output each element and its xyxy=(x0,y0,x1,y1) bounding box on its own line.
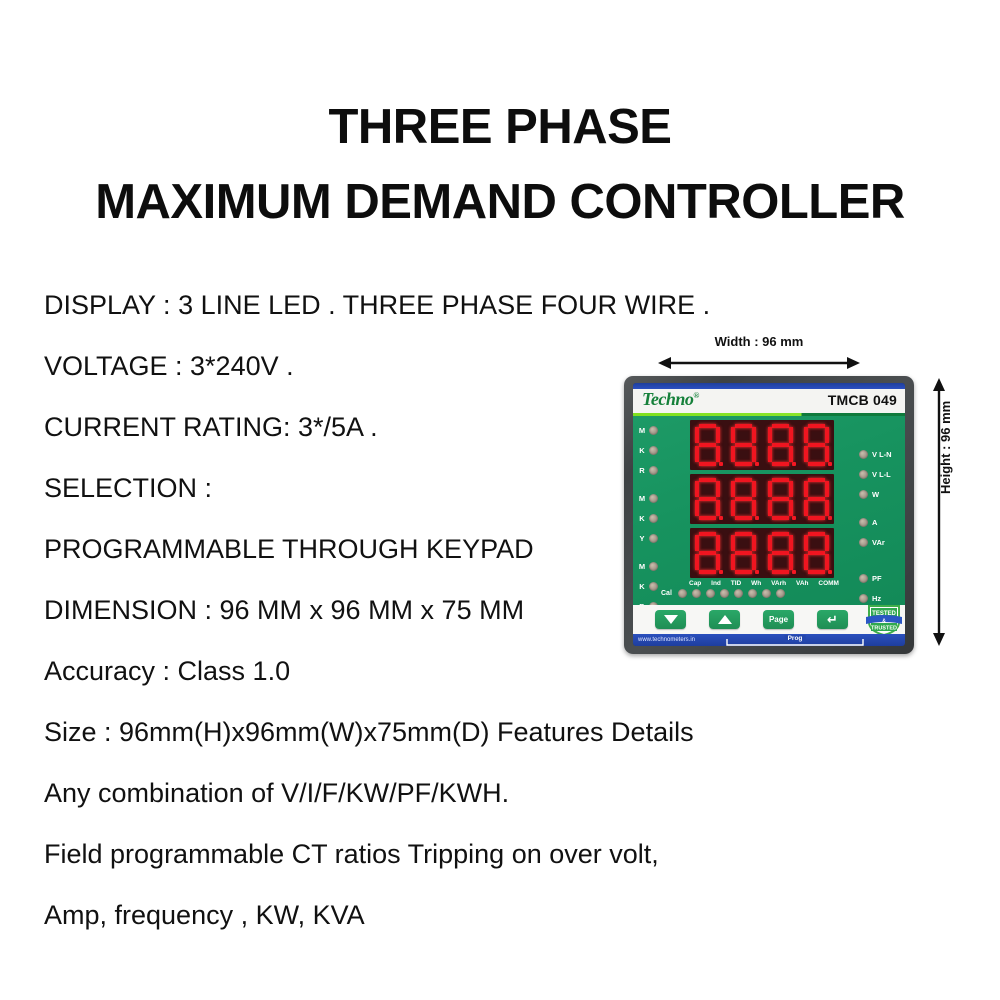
led-label: VAr xyxy=(872,538,885,547)
spec-line: Field programmable CT ratios Tripping on… xyxy=(44,841,664,902)
led-indicator: VAr xyxy=(859,532,903,552)
cal-led-row: Cal xyxy=(661,589,841,598)
led-dot-icon xyxy=(649,426,658,435)
led-display-row-2 xyxy=(690,474,834,524)
led-dot-icon xyxy=(649,582,658,591)
spec-line: Any combination of V/I/F/KW/PF/KWH. xyxy=(44,780,664,841)
chevron-up-icon xyxy=(718,615,732,624)
function-label: VAh xyxy=(796,580,809,587)
device-panel: M K R M K Y M K B V L-N xyxy=(633,416,905,605)
led-label: Y xyxy=(635,534,649,543)
function-label: VArh xyxy=(771,580,786,587)
led-display-row-1 xyxy=(690,420,834,470)
led-dot-icon xyxy=(748,589,757,598)
led-indicator: PF xyxy=(859,568,903,588)
led-dot-icon xyxy=(859,490,868,499)
spec-line: VOLTAGE : 3*240V . xyxy=(44,353,664,414)
prog-bracket: Prog xyxy=(725,635,865,645)
led-label: K xyxy=(635,582,649,591)
led-dot-icon xyxy=(859,470,868,479)
led-indicator: M xyxy=(635,488,679,508)
seven-segment-digit xyxy=(768,532,793,574)
up-button[interactable] xyxy=(709,610,740,629)
brand-logo: Techno® xyxy=(642,389,699,410)
spec-line: Amp, frequency , KW, KVA xyxy=(44,902,664,963)
prog-label: Prog xyxy=(785,635,806,642)
svg-text:TRUSTED: TRUSTED xyxy=(871,626,897,632)
led-dot-icon xyxy=(720,589,729,598)
led-dot-icon xyxy=(649,514,658,523)
led-dot-icon xyxy=(776,589,785,598)
seven-segment-digit xyxy=(804,532,829,574)
title-line-1: THREE PHASE xyxy=(0,103,1000,152)
seven-segment-digit xyxy=(695,478,720,520)
led-label: V L-N xyxy=(872,450,892,459)
function-label: Cap xyxy=(689,580,701,587)
spec-line: SELECTION : xyxy=(44,475,664,536)
function-label: TID xyxy=(731,580,741,587)
led-dot-icon xyxy=(762,589,771,598)
led-label: M xyxy=(635,426,649,435)
down-button[interactable] xyxy=(655,610,686,629)
registered-icon: ® xyxy=(693,391,698,400)
led-label: W xyxy=(872,490,879,499)
led-indicator: Y xyxy=(635,528,679,548)
led-indicator: A xyxy=(859,512,903,532)
title-line-2: MAXIMUM DEMAND CONTROLLER xyxy=(0,178,1000,227)
cal-label: Cal xyxy=(661,590,672,597)
brand-text: Techno xyxy=(642,389,693,409)
led-indicator: K xyxy=(635,440,679,460)
seven-segment-digit xyxy=(804,424,829,466)
led-dot-icon xyxy=(692,589,701,598)
seven-segment-digit xyxy=(804,478,829,520)
led-label: PF xyxy=(872,574,882,583)
led-dot-icon xyxy=(859,450,868,459)
left-led-column: M K R M K Y M K B xyxy=(635,420,679,616)
seven-segment-digit xyxy=(695,424,720,466)
device-footer-bar: www.technometers.in Prog xyxy=(633,634,905,646)
led-display-row-3 xyxy=(690,528,834,578)
led-spacer xyxy=(859,560,903,568)
led-dot-icon xyxy=(734,589,743,598)
led-indicator: M xyxy=(635,420,679,440)
led-label: Hz xyxy=(872,594,881,603)
led-dot-icon xyxy=(649,446,658,455)
led-dot-icon xyxy=(649,562,658,571)
spec-line: Size : 96mm(H)x96mm(W)x75mm(D) Features … xyxy=(44,719,664,780)
poster-root: THREE PHASE MAXIMUM DEMAND CONTROLLER DI… xyxy=(0,0,1000,1000)
product-image: Width : 96 mm Height : 96 mm Techno® TMC… xyxy=(612,334,982,686)
seven-segment-digit xyxy=(731,424,756,466)
specification-list: DISPLAY : 3 LINE LED . THREE PHASE FOUR … xyxy=(44,292,664,963)
led-indicator: V L-N xyxy=(859,444,903,464)
led-dot-icon xyxy=(859,594,868,603)
device-faceplate: Techno® TMCB 049 M K R M K Y M xyxy=(633,383,905,646)
led-dot-icon xyxy=(859,538,868,547)
seven-segment-digit xyxy=(695,532,720,574)
led-dot-icon xyxy=(859,574,868,583)
led-dot-icon xyxy=(678,589,687,598)
led-label: M xyxy=(635,494,649,503)
function-label: Ind xyxy=(711,580,721,587)
led-indicator: R xyxy=(635,460,679,480)
led-spacer xyxy=(635,548,679,556)
led-label: K xyxy=(635,514,649,523)
led-label: V L-L xyxy=(872,470,891,479)
enter-button[interactable]: ↵ xyxy=(817,610,848,629)
page-button[interactable]: Page xyxy=(763,610,794,629)
function-label: COMM xyxy=(818,580,839,587)
led-indicator: W xyxy=(859,484,903,504)
led-spacer xyxy=(635,480,679,488)
led-spacer xyxy=(859,504,903,512)
spec-line: Accuracy : Class 1.0 xyxy=(44,658,664,719)
width-dimension-label: Width : 96 mm xyxy=(652,334,866,349)
led-spacer xyxy=(859,552,903,560)
controller-device: Techno® TMCB 049 M K R M K Y M xyxy=(624,376,914,654)
led-dot-icon xyxy=(649,466,658,475)
width-dimension-arrow xyxy=(658,356,860,370)
chevron-down-icon xyxy=(664,615,678,624)
led-indicator: M xyxy=(635,556,679,576)
right-led-column: V L-N V L-L W A VAr PF Hz VA xyxy=(859,444,903,628)
led-indicator: K xyxy=(635,508,679,528)
function-label: Wh xyxy=(751,580,761,587)
led-dot-icon xyxy=(649,494,658,503)
led-label: R xyxy=(635,466,649,475)
led-dot-icon xyxy=(859,518,868,527)
seven-segment-digit xyxy=(768,424,793,466)
svg-text:&: & xyxy=(882,619,886,625)
model-number: TMCB 049 xyxy=(828,392,897,408)
height-dimension-label: Height : 96 mm xyxy=(938,401,953,494)
led-label: K xyxy=(635,446,649,455)
function-label-row: Cap Ind TID Wh VArh VAh COMM xyxy=(689,580,839,587)
spec-line: DIMENSION : 96 MM x 96 MM x 75 MM xyxy=(44,597,664,658)
spec-line: CURRENT RATING: 3*/5A . xyxy=(44,414,664,475)
tested-trusted-badge: TESTED TRUSTED & xyxy=(866,604,902,636)
seven-segment-digit xyxy=(768,478,793,520)
led-dot-icon xyxy=(649,534,658,543)
led-dot-icon xyxy=(706,589,715,598)
led-label: M xyxy=(635,562,649,571)
enter-arrow-icon: ↵ xyxy=(827,613,838,626)
spec-line: DISPLAY : 3 LINE LED . THREE PHASE FOUR … xyxy=(44,292,664,353)
spec-line: PROGRAMMABLE THROUGH KEYPAD xyxy=(44,536,664,597)
led-indicator: V L-L xyxy=(859,464,903,484)
website-url: www.technometers.in xyxy=(638,637,695,643)
seven-segment-digit xyxy=(731,532,756,574)
seven-segment-digit xyxy=(731,478,756,520)
page-title: THREE PHASE MAXIMUM DEMAND CONTROLLER xyxy=(0,103,1000,227)
led-label: A xyxy=(872,518,877,527)
keypad-strip: Page ↵ TESTED TRUSTED & xyxy=(633,605,905,634)
